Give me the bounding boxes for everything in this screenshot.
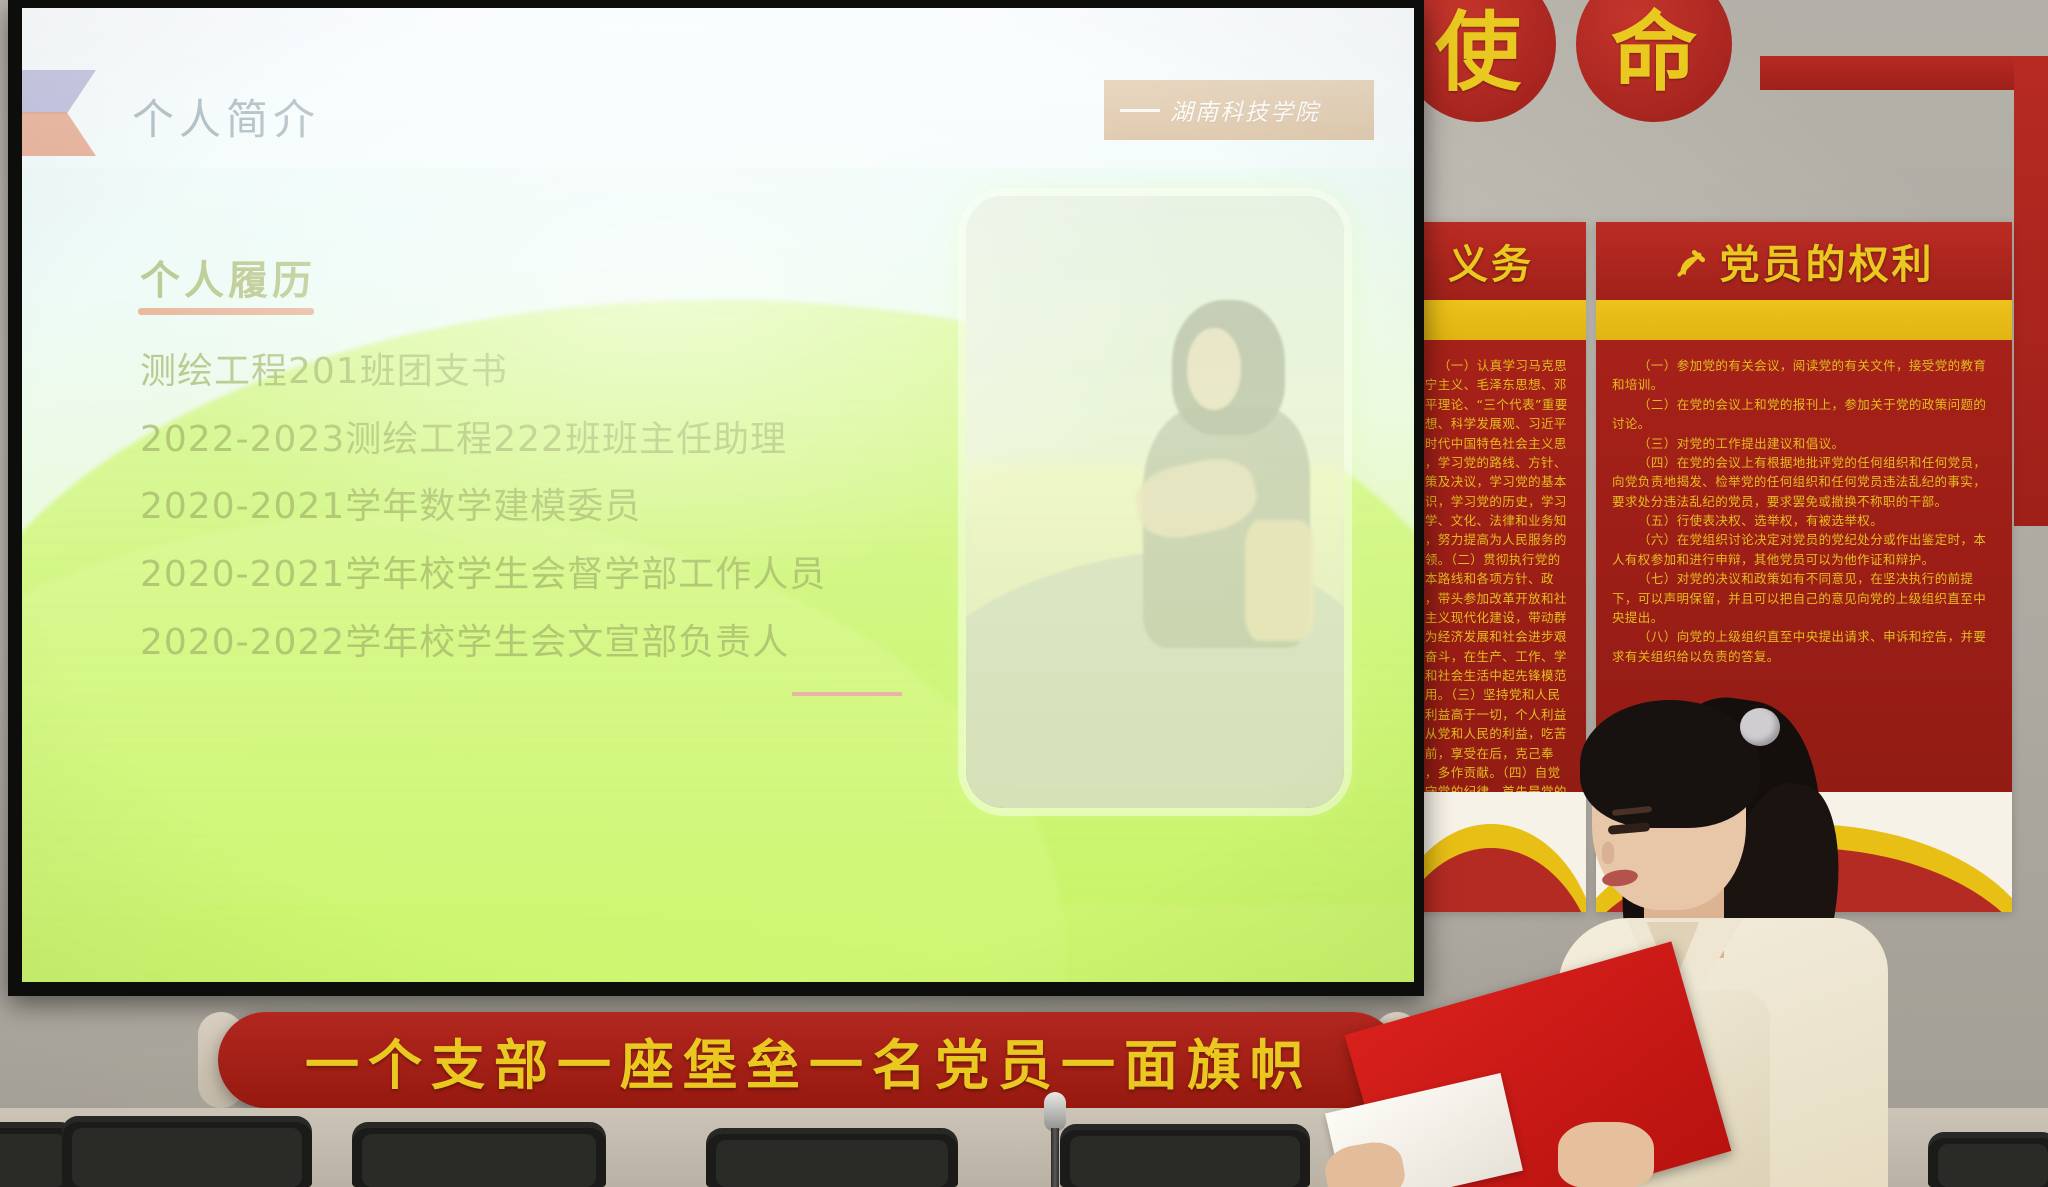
hammer-sickle-icon	[1674, 244, 1708, 278]
wall-panel-rights-line: （四）在党的会议上有根据地批评党的任何组织和任何党员，向党负责地揭发、检举党的任…	[1612, 453, 1996, 511]
resume-list-item: 2020-2021学年数学建模委员	[140, 473, 960, 541]
wall-panel-rights-line: （八）向党的上级组织直至中央提出请求、申诉和控告，并要求有关组织给以负责的答复。	[1612, 627, 1996, 666]
resume-list-item: 2022-2023测绘工程222班班主任助理	[140, 406, 960, 474]
wall-panel-rights-strip	[1596, 300, 2012, 340]
wall-badge-label: 使	[1435, 0, 1521, 107]
wall-panel-rights-title: 党员的权利	[1720, 232, 1935, 290]
chair	[352, 1122, 606, 1187]
wall-panel-duties-title: 义务	[1448, 232, 1534, 290]
wall-panel-rights-line: （七）对党的决议和政策如有不同意见，在坚决执行的前提下，可以声明保留，并且可以把…	[1612, 569, 1996, 627]
projection-screen-frame: 个人简介 湖南科技学院 个人履历 测绘工程201班团支书 2022-2023测绘…	[8, 0, 1424, 996]
presenter-nose	[1602, 842, 1614, 864]
wall-trim-bar-top	[1760, 56, 2048, 90]
screenshot-root: 使 命 义务 （一）认真学习马克思列宁主义、毛泽东思想、邓小平理论、“三个代表”…	[0, 0, 2048, 1187]
wall-panel-duties-header: 义务	[1396, 222, 1586, 300]
presenter-hair-front	[1580, 700, 1760, 828]
wall-panel-rights-line: （三）对党的工作提出建议和倡议。	[1612, 434, 1996, 453]
slide-photo-wash-2	[966, 196, 1344, 808]
chair	[1928, 1132, 2048, 1187]
wall-panel-rights-line: （六）在党组织讨论决定对党员的党纪处分或作出鉴定时，本人有权参加和进行申辩，其他…	[1612, 530, 1996, 569]
presenter-hand	[1558, 1122, 1654, 1187]
chair	[706, 1128, 958, 1187]
wall-panel-duties-strip	[1396, 300, 1586, 340]
slide-photo	[966, 196, 1344, 808]
logo-text: 湖南科技学院	[1170, 93, 1320, 127]
slide-title: 个人简介	[132, 86, 320, 147]
presenter-hair-tie	[1740, 708, 1780, 746]
wall-panel-rights-header: 党员的权利	[1596, 222, 2012, 300]
ribbon-decoration-icon	[22, 70, 100, 156]
university-logo: 湖南科技学院	[1104, 80, 1374, 140]
resume-list-item: 2020-2022学年校学生会文宣部负责人	[140, 609, 960, 677]
chair	[62, 1116, 312, 1187]
wall-panel-rights-line: （五）行使表决权、选举权，有被选举权。	[1612, 511, 1996, 530]
presenter	[1430, 690, 1930, 1187]
resume-list-item: 测绘工程201班团支书	[140, 338, 960, 406]
logo-dash-icon	[1120, 109, 1160, 112]
wall-badge-label: 命	[1611, 0, 1697, 107]
presentation-slide: 个人简介 湖南科技学院 个人履历 测绘工程201班团支书 2022-2023测绘…	[22, 8, 1414, 982]
resume-list: 测绘工程201班团支书 2022-2023测绘工程222班班主任助理 2020-…	[140, 338, 960, 676]
resume-list-item: 2020-2021学年校学生会督学部工作人员	[140, 541, 960, 609]
chair	[1060, 1124, 1310, 1187]
wall-slogan-banner: 一个支部一座堡垒一名党员一面旗帜	[218, 1012, 1400, 1108]
wall-panel-rights-line: （二）在党的会议上和党的报刊上，参加关于党的政策问题的讨论。	[1612, 395, 1996, 434]
slide-section-underline	[138, 308, 314, 315]
wall-trim-bar-right	[2014, 56, 2048, 526]
slide-accent-rule	[792, 692, 902, 696]
microphone-icon	[1044, 1092, 1066, 1187]
slide-section-title: 个人履历	[140, 248, 316, 306]
wall-slogan-text: 一个支部一座堡垒一名党员一面旗帜	[305, 1021, 1313, 1100]
wall-panel-rights-line: （一）参加党的有关会议，阅读党的有关文件，接受党的教育和培训。	[1612, 356, 1996, 395]
